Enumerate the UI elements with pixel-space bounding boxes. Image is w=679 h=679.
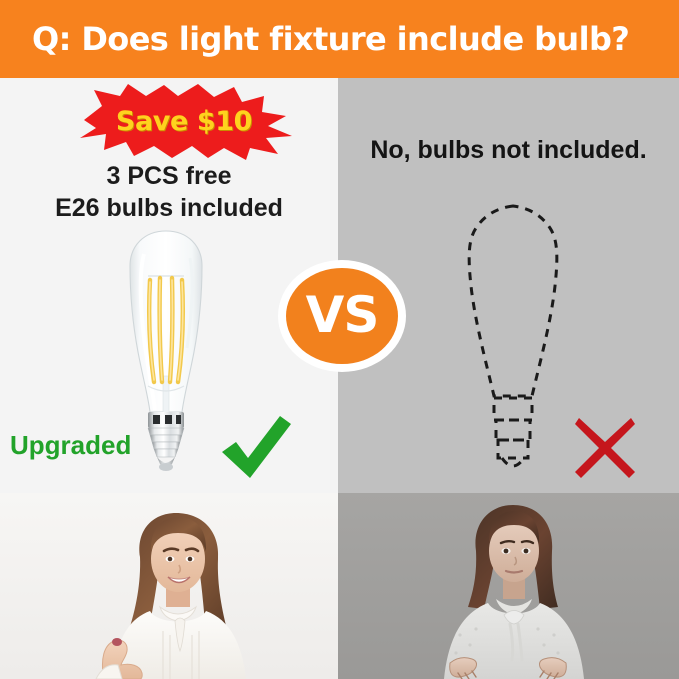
green-check-icon [218, 408, 294, 484]
left-caption-line-1: 3 PCS free [0, 160, 338, 192]
happy-woman-thumbs-up-photo [0, 493, 338, 679]
vs-badge-label: VS [276, 258, 408, 374]
disappointed-woman-open-hands-photo [338, 493, 679, 679]
dashed-bulb-outline-icon [448, 200, 578, 475]
left-caption-line-2: E26 bulbs included [0, 192, 338, 224]
comparison-infographic: Q: Does light fixture include bulb? Save… [0, 0, 679, 679]
comparison-body: Save $10 3 PCS free E26 bulbs included [0, 78, 679, 493]
left-caption: 3 PCS free E26 bulbs included [0, 160, 338, 224]
photo-strip [0, 493, 679, 679]
save-badge-label: Save $10 [68, 82, 300, 160]
header-banner: Q: Does light fixture include bulb? [0, 0, 679, 78]
page-title: Q: Does light fixture include bulb? [32, 20, 629, 58]
upgraded-label: Upgraded [10, 430, 131, 461]
red-cross-icon [572, 415, 638, 481]
save-badge: Save $10 [68, 82, 300, 160]
right-caption: No, bulbs not included. [338, 136, 679, 165]
vs-badge: VS [276, 258, 408, 374]
